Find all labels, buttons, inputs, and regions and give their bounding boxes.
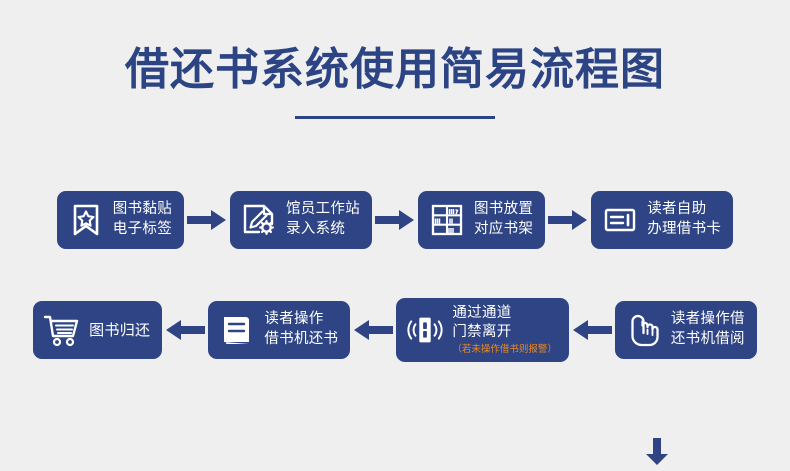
flow-node-book-tagging[interactable]: 图书黏贴 电子标签 (57, 191, 184, 249)
title-divider (295, 116, 495, 119)
flow-node-shelf-placement[interactable]: 图书放置 对应书架 (418, 191, 545, 249)
arrow-right-icon (184, 207, 230, 233)
flow-node-label: 读者操作 借书机还书 (264, 310, 338, 349)
arrow-left-icon (569, 317, 615, 343)
flow-row-2: 图书归还 读者操作 借书机还书 (0, 290, 790, 370)
document-pencil-gear-icon (240, 201, 278, 239)
flow-node-label: 读者自助 办理借书卡 (647, 200, 721, 239)
flow-diagram: 图书黏贴 电子标签 (0, 180, 790, 370)
header: 借还书系统使用简易流程图 (0, 46, 790, 119)
security-gate-icon (406, 311, 444, 349)
flow-node-self-return-machine[interactable]: 读者操作 借书机还书 (208, 301, 350, 359)
flow-node-label: 图书放置 对应书架 (474, 200, 533, 239)
arrow-left-icon (162, 317, 208, 343)
arrow-right-icon (372, 207, 418, 233)
bookmark-star-icon (67, 201, 105, 239)
flow-node-self-borrow-machine[interactable]: 读者操作借 还书机借阅 (615, 301, 757, 359)
bookshelf-grid-icon (428, 201, 466, 239)
flow-node-security-gate[interactable]: 通过通道 门禁离开 （若未操作借书则报警） (396, 298, 569, 362)
flow-node-library-card[interactable]: 读者自助 办理借书卡 (591, 191, 733, 249)
flow-node-label: 通过通道 门禁离开 （若未操作借书则报警） (452, 284, 557, 376)
flow-node-label: 读者操作借 还书机借阅 (671, 310, 745, 349)
flow-node-warning-note: （若未操作借书则报警） (452, 344, 557, 356)
flow-connector-vertical (0, 438, 790, 468)
page-title: 借还书系统使用简易流程图 (0, 46, 790, 94)
library-card-icon (601, 201, 639, 239)
book-icon (218, 311, 256, 349)
flow-node-label: 图书黏贴 电子标签 (113, 200, 172, 239)
arrow-right-icon (545, 207, 591, 233)
hand-tap-icon (625, 311, 663, 349)
shopping-cart-icon (43, 311, 81, 349)
arrow-down-icon (645, 438, 669, 471)
flow-node-label: 图书归还 (89, 320, 150, 340)
flow-node-label: 馆员工作站 录入系统 (286, 200, 360, 239)
flow-node-librarian-workstation[interactable]: 馆员工作站 录入系统 (230, 191, 372, 249)
flow-row-1: 图书黏贴 电子标签 (0, 180, 790, 260)
arrow-left-icon (350, 317, 396, 343)
flow-node-book-returned[interactable]: 图书归还 (33, 301, 162, 359)
flow-node-label-text: 通过通道 门禁离开 (452, 305, 511, 341)
